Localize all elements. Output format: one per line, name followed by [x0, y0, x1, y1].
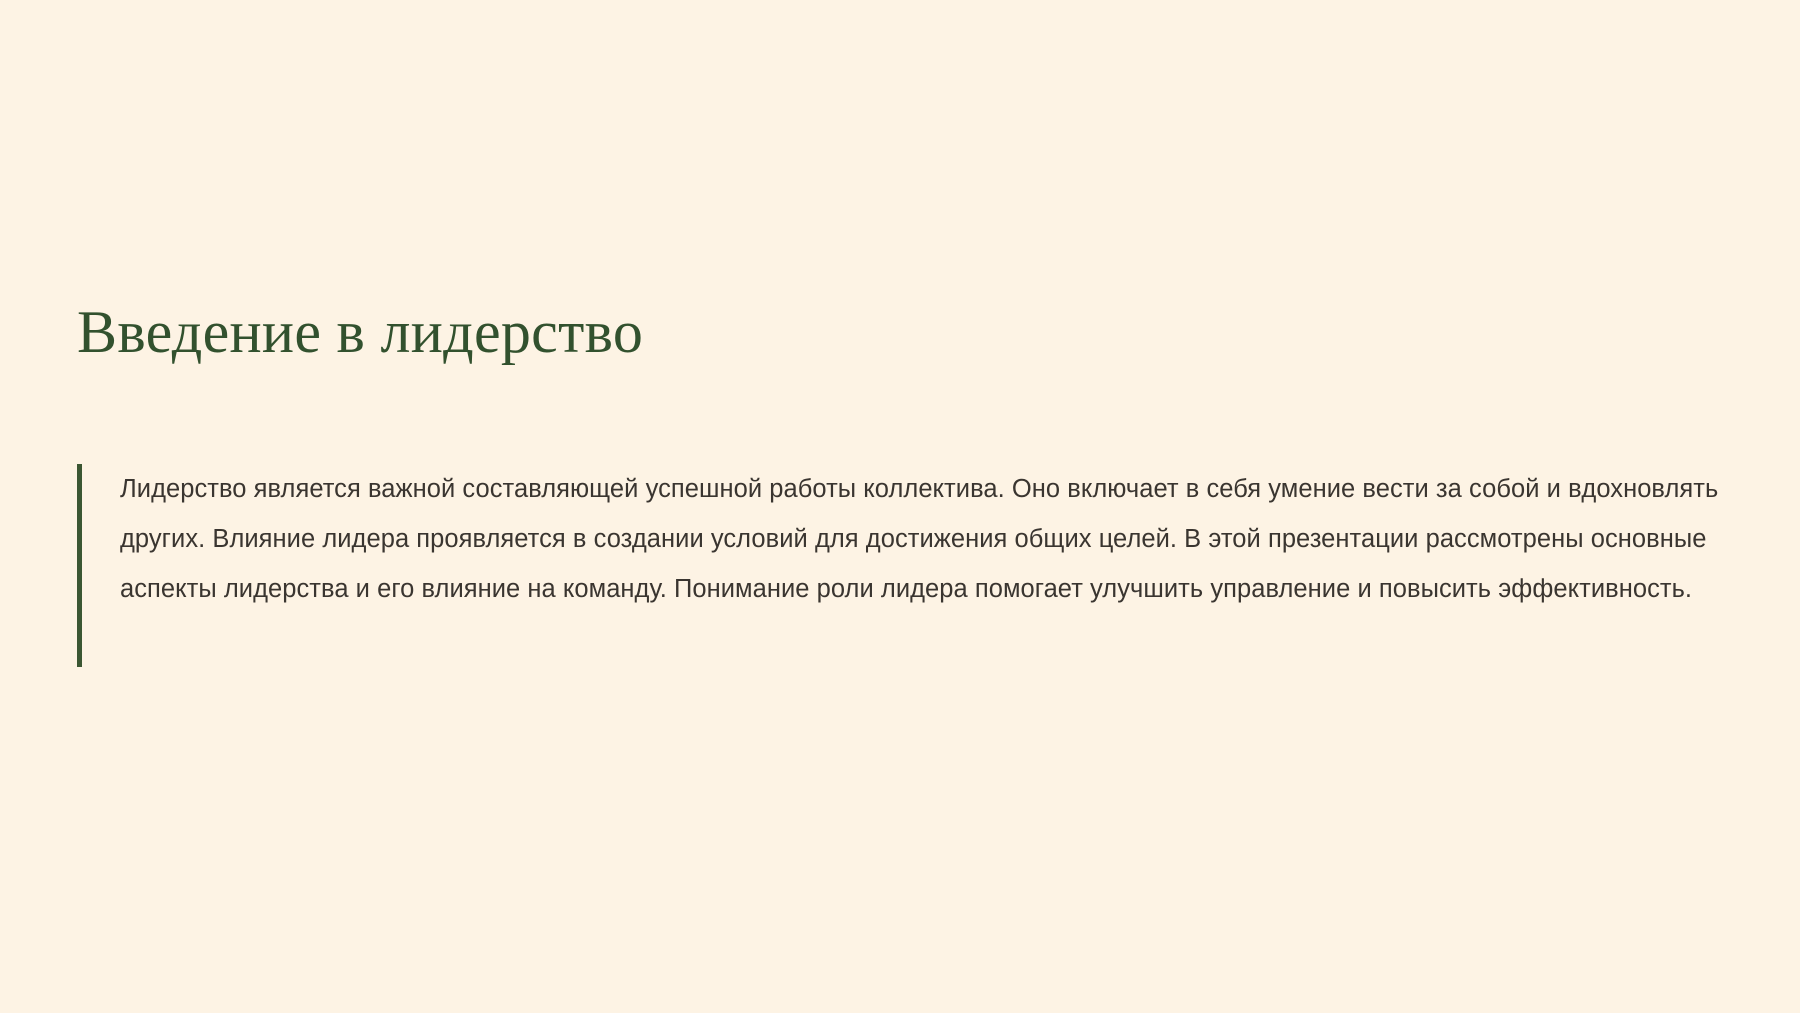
body-callout: Лидерство является важной составляющей у…	[77, 464, 1732, 667]
page-title: Введение в лидерство	[77, 299, 1697, 366]
slide-canvas: Введение в лидерство Лидерство является …	[0, 0, 1800, 1013]
body-paragraph: Лидерство является важной составляющей у…	[82, 464, 1732, 667]
